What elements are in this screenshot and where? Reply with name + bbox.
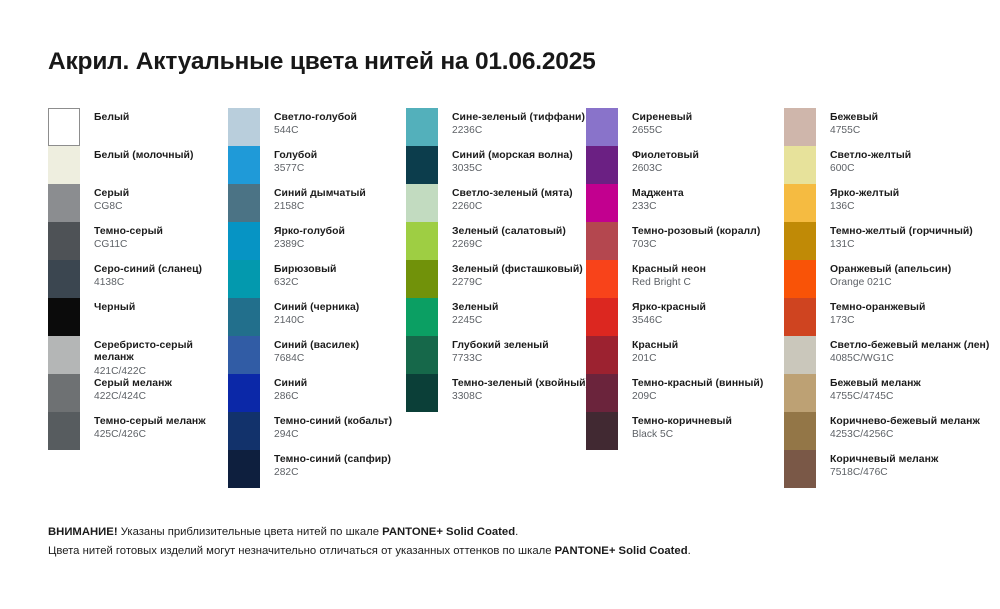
color-labels: Синий (василек)7684C	[260, 336, 359, 365]
color-name: Черный	[94, 302, 135, 314]
color-name: Синий дымчатый	[274, 188, 366, 200]
pantone-code: 2236C	[452, 125, 585, 137]
color-name: Синий (черника)	[274, 302, 359, 314]
color-swatch[interactable]	[228, 108, 260, 146]
color-entry[interactable]: Синий дымчатый2158C	[228, 184, 406, 222]
color-entry[interactable]: СерыйCG8C	[48, 184, 228, 222]
color-swatch[interactable]	[228, 412, 260, 450]
color-name: Серый меланж	[94, 378, 172, 390]
color-labels: Темно-розовый (коралл)703C	[618, 222, 760, 251]
color-entry[interactable]: Бирюзовый632C	[228, 260, 406, 298]
color-swatch[interactable]	[228, 260, 260, 298]
color-swatch[interactable]	[228, 222, 260, 260]
color-name: Фиолетовый	[632, 150, 699, 162]
footer-line-1-text: Указаны приблизительные цвета нитей по ш…	[118, 526, 383, 538]
color-swatch[interactable]	[48, 298, 80, 336]
color-entry[interactable]: Бежевый4755C	[784, 108, 998, 146]
color-name: Зеленый	[452, 302, 498, 314]
footer-attention-label: ВНИМАНИЕ!	[48, 526, 118, 538]
color-name: Серый	[94, 188, 129, 200]
color-swatch[interactable]	[48, 336, 80, 374]
color-labels: Ярко-красный3546C	[618, 298, 706, 327]
color-entry[interactable]: Коричневый меланж7518C/476C	[784, 450, 998, 488]
color-swatch[interactable]	[48, 184, 80, 222]
color-columns-container: БелыйБелый (молочный)СерыйCG8CТемно-серы…	[48, 108, 998, 488]
color-labels: Зеленый2245C	[438, 298, 498, 327]
pantone-code: 2603C	[632, 163, 699, 175]
color-labels: Синий дымчатый2158C	[260, 184, 366, 213]
pantone-code: 632C	[274, 277, 336, 289]
color-labels: Темно-желтый (горчичный)131C	[816, 222, 973, 251]
color-column-grayscale: БелыйБелый (молочный)СерыйCG8CТемно-серы…	[48, 108, 228, 450]
color-entry[interactable]: Ярко-желтый136C	[784, 184, 998, 222]
color-swatch[interactable]	[586, 412, 618, 450]
pantone-code: CG8C	[94, 201, 129, 213]
color-entry[interactable]: Темно-оранжевый173C	[784, 298, 998, 336]
color-entry[interactable]: Серый меланж422C/424C	[48, 374, 228, 412]
pantone-code: 294C	[274, 429, 392, 441]
color-swatch[interactable]	[48, 146, 80, 184]
pantone-code: 209C	[632, 391, 763, 403]
color-entry[interactable]: Голубой3577C	[228, 146, 406, 184]
color-labels: Бирюзовый632C	[260, 260, 336, 289]
color-entry[interactable]: Зеленый2245C	[406, 298, 586, 336]
pantone-code: 425C/426C	[94, 429, 206, 441]
color-entry[interactable]: Белый	[48, 108, 228, 146]
pantone-code: 2389C	[274, 239, 345, 251]
color-entry[interactable]: Темно-серыйCG11C	[48, 222, 228, 260]
color-labels: Темно-оранжевый173C	[816, 298, 925, 327]
color-column-blues: Светло-голубой544CГолубой3577CСиний дымч…	[228, 108, 406, 488]
pantone-code: 4085C/WG1C	[830, 353, 989, 365]
pantone-code: 2655C	[632, 125, 692, 137]
color-swatch[interactable]	[48, 412, 80, 450]
color-name: Голубой	[274, 150, 317, 162]
color-labels: Сиреневый2655C	[618, 108, 692, 137]
color-labels: Темно-серыйCG11C	[80, 222, 163, 251]
color-name: Красный неон	[632, 264, 706, 276]
color-labels: Светло-голубой544C	[260, 108, 357, 137]
color-swatch[interactable]	[48, 108, 80, 146]
color-swatch[interactable]	[586, 336, 618, 374]
color-entry[interactable]: Светло-бежевый меланж (лен)4085C/WG1C	[784, 336, 998, 374]
pantone-code: Red Bright C	[632, 277, 706, 289]
color-entry[interactable]: Зеленый (салатовый)2269C	[406, 222, 586, 260]
color-chart-page: Акрил. Актуальные цвета нитей на 01.06.2…	[0, 0, 1000, 609]
color-labels: Серебристо-серый меланж421C/422C	[80, 336, 214, 378]
pantone-code: 201C	[632, 353, 678, 365]
color-labels: СерыйCG8C	[80, 184, 129, 213]
color-swatch[interactable]	[784, 412, 816, 450]
color-labels: Серо-синий (сланец)4138C	[80, 260, 202, 289]
pantone-code: 2140C	[274, 315, 359, 327]
color-name: Коричнево-бежевый меланж	[830, 416, 980, 428]
color-entry[interactable]: Красный неонRed Bright C	[586, 260, 784, 298]
pantone-code: 600C	[830, 163, 911, 175]
color-labels: Синий (черника)2140C	[260, 298, 359, 327]
color-labels: Оранжевый (апельсин)Orange 021C	[816, 260, 951, 289]
color-swatch[interactable]	[784, 374, 816, 412]
color-entry[interactable]: Темно-коричневыйBlack 5C	[586, 412, 784, 450]
color-entry[interactable]: Светло-голубой544C	[228, 108, 406, 146]
color-labels: Ярко-голубой2389C	[260, 222, 345, 251]
color-labels: Маджента233C	[618, 184, 684, 213]
color-entry[interactable]: Темно-розовый (коралл)703C	[586, 222, 784, 260]
color-name: Синий (василек)	[274, 340, 359, 352]
footer-line-2: Цвета нитей готовых изделий могут незнач…	[48, 542, 953, 561]
pantone-code: 3546C	[632, 315, 706, 327]
color-labels: Ярко-желтый136C	[816, 184, 899, 213]
color-swatch[interactable]	[784, 222, 816, 260]
color-entry[interactable]: Сиреневый2655C	[586, 108, 784, 146]
color-name: Белый (молочный)	[94, 150, 193, 162]
color-entry[interactable]: Синий286C	[228, 374, 406, 412]
pantone-code: 4138C	[94, 277, 202, 289]
color-swatch[interactable]	[586, 374, 618, 412]
color-swatch[interactable]	[406, 374, 438, 412]
color-name: Ярко-голубой	[274, 226, 345, 238]
pantone-code: 7733C	[452, 353, 549, 365]
color-entry[interactable]: Темно-желтый (горчичный)131C	[784, 222, 998, 260]
color-swatch[interactable]	[228, 450, 260, 488]
color-name: Оранжевый (апельсин)	[830, 264, 951, 276]
color-entry[interactable]: Серебристо-серый меланж421C/422C	[48, 336, 228, 374]
color-name: Темно-розовый (коралл)	[632, 226, 760, 238]
color-labels: Красный неонRed Bright C	[618, 260, 706, 289]
color-labels: Глубокий зеленый7733C	[438, 336, 549, 365]
color-labels: Светло-желтый600C	[816, 146, 911, 175]
color-entry[interactable]: Синий (василек)7684C	[228, 336, 406, 374]
color-swatch[interactable]	[228, 374, 260, 412]
color-entry[interactable]: Синий (морская волна)3035C	[406, 146, 586, 184]
color-name: Темно-серый меланж	[94, 416, 206, 428]
footer-line-1-period: .	[515, 526, 518, 538]
color-entry[interactable]: Глубокий зеленый7733C	[406, 336, 586, 374]
pantone-code: 2269C	[452, 239, 566, 251]
color-name: Серебристо-серый меланж	[94, 340, 214, 365]
pantone-code: Orange 021C	[830, 277, 951, 289]
color-name: Глубокий зеленый	[452, 340, 549, 352]
color-swatch[interactable]	[586, 184, 618, 222]
color-entry[interactable]: Темно-синий (кобальт)294C	[228, 412, 406, 450]
color-entry[interactable]: Светло-зеленый (мята)2260C	[406, 184, 586, 222]
pantone-code: 173C	[830, 315, 925, 327]
color-swatch[interactable]	[406, 260, 438, 298]
color-swatch[interactable]	[48, 222, 80, 260]
color-swatch[interactable]	[586, 108, 618, 146]
color-entry[interactable]: Красный201C	[586, 336, 784, 374]
color-labels: Красный201C	[618, 336, 678, 365]
color-name: Темно-серый	[94, 226, 163, 238]
footer-brand-2: PANTONE+ Solid Coated	[555, 545, 688, 557]
color-entry[interactable]: Бежевый меланж4755C/4745C	[784, 374, 998, 412]
pantone-code: Black 5C	[632, 429, 732, 441]
pantone-code: 2245C	[452, 315, 498, 327]
color-entry[interactable]: Светло-желтый600C	[784, 146, 998, 184]
color-labels: Синий286C	[260, 374, 307, 403]
color-name: Темно-синий (сапфир)	[274, 454, 391, 466]
color-entry[interactable]: Зеленый (фисташковый)2279C	[406, 260, 586, 298]
color-labels: Синий (морская волна)3035C	[438, 146, 573, 175]
color-labels: Коричневый меланж7518C/476C	[816, 450, 938, 479]
color-labels: Белый (молочный)	[80, 146, 193, 162]
color-labels: Зеленый (фисташковый)2279C	[438, 260, 583, 289]
color-labels: Коричнево-бежевый меланж4253C/4256C	[816, 412, 980, 441]
color-swatch[interactable]	[784, 108, 816, 146]
color-swatch[interactable]	[784, 184, 816, 222]
color-name: Темно-оранжевый	[830, 302, 925, 314]
color-labels: Зеленый (салатовый)2269C	[438, 222, 566, 251]
color-labels: Бежевый4755C	[816, 108, 878, 137]
color-entry[interactable]: Ярко-голубой2389C	[228, 222, 406, 260]
pantone-code: 286C	[274, 391, 307, 403]
color-name: Ярко-красный	[632, 302, 706, 314]
color-swatch[interactable]	[406, 184, 438, 222]
color-labels: Темно-красный (винный)209C	[618, 374, 763, 403]
color-swatch[interactable]	[784, 146, 816, 184]
color-swatch[interactable]	[406, 298, 438, 336]
color-name: Маджента	[632, 188, 684, 200]
color-swatch[interactable]	[228, 184, 260, 222]
pantone-code: 233C	[632, 201, 684, 213]
pantone-code: 4755C	[830, 125, 878, 137]
color-swatch[interactable]	[586, 222, 618, 260]
pantone-code: 544C	[274, 125, 357, 137]
footer-brand-1: PANTONE+ Solid Coated	[382, 526, 515, 538]
pantone-code: 2158C	[274, 201, 366, 213]
color-name: Ярко-желтый	[830, 188, 899, 200]
color-name: Коричневый меланж	[830, 454, 938, 466]
color-name: Сине-зеленый (тиффани)	[452, 112, 585, 124]
pantone-code: 7684C	[274, 353, 359, 365]
color-entry[interactable]: Темно-красный (винный)209C	[586, 374, 784, 412]
color-entry[interactable]: Ярко-красный3546C	[586, 298, 784, 336]
color-entry[interactable]: Коричнево-бежевый меланж4253C/4256C	[784, 412, 998, 450]
color-labels: Фиолетовый2603C	[618, 146, 699, 175]
color-swatch[interactable]	[406, 222, 438, 260]
color-swatch[interactable]	[406, 146, 438, 184]
color-name: Темно-красный (винный)	[632, 378, 763, 390]
color-swatch[interactable]	[228, 298, 260, 336]
pantone-code: CG11C	[94, 239, 163, 251]
color-column-beiges-browns: Бежевый4755CСветло-желтый600CЯрко-желтый…	[784, 108, 998, 488]
color-labels: Темно-серый меланж425C/426C	[80, 412, 206, 441]
pantone-code: 4755C/4745C	[830, 391, 921, 403]
footer-disclaimer: ВНИМАНИЕ! Указаны приблизительные цвета …	[48, 523, 953, 560]
footer-line-1: ВНИМАНИЕ! Указаны приблизительные цвета …	[48, 523, 953, 542]
color-swatch[interactable]	[228, 336, 260, 374]
color-swatch[interactable]	[784, 298, 816, 336]
color-labels: Темно-зеленый (хвойный)3308C	[438, 374, 586, 403]
color-labels: Сине-зеленый (тиффани)2236C	[438, 108, 585, 137]
color-labels: Белый	[80, 108, 129, 124]
color-name: Светло-голубой	[274, 112, 357, 124]
color-name: Светло-бежевый меланж (лен)	[830, 340, 989, 352]
color-swatch[interactable]	[406, 108, 438, 146]
color-name: Красный	[632, 340, 678, 352]
color-entry[interactable]: Фиолетовый2603C	[586, 146, 784, 184]
color-entry[interactable]: Белый (молочный)	[48, 146, 228, 184]
color-entry[interactable]: Оранжевый (апельсин)Orange 021C	[784, 260, 998, 298]
color-swatch[interactable]	[586, 260, 618, 298]
color-column-greens: Сине-зеленый (тиффани)2236CСиний (морска…	[406, 108, 586, 412]
color-name: Синий	[274, 378, 307, 390]
pantone-code: 7518C/476C	[830, 467, 938, 479]
color-name: Темно-желтый (горчичный)	[830, 226, 973, 238]
color-name: Бежевый меланж	[830, 378, 921, 390]
pantone-code: 2279C	[452, 277, 583, 289]
pantone-code: 2260C	[452, 201, 573, 213]
color-swatch[interactable]	[586, 298, 618, 336]
page-title: Акрил. Актуальные цвета нитей на 01.06.2…	[48, 48, 596, 76]
color-swatch[interactable]	[784, 450, 816, 488]
color-labels: Темно-синий (сапфир)282C	[260, 450, 391, 479]
color-column-purples-reds: Сиреневый2655CФиолетовый2603CМаджента233…	[586, 108, 784, 450]
color-swatch[interactable]	[406, 336, 438, 374]
pantone-code: 3035C	[452, 163, 573, 175]
color-entry[interactable]: Черный	[48, 298, 228, 336]
color-entry[interactable]: Темно-серый меланж425C/426C	[48, 412, 228, 450]
color-entry[interactable]: Маджента233C	[586, 184, 784, 222]
color-name: Бежевый	[830, 112, 878, 124]
color-name: Зеленый (фисташковый)	[452, 264, 583, 276]
color-labels: Серый меланж422C/424C	[80, 374, 172, 403]
color-name: Сиреневый	[632, 112, 692, 124]
color-entry[interactable]: Темно-синий (сапфир)282C	[228, 450, 406, 488]
color-name: Светло-желтый	[830, 150, 911, 162]
color-swatch[interactable]	[48, 374, 80, 412]
color-name: Синий (морская волна)	[452, 150, 573, 162]
color-name: Зеленый (салатовый)	[452, 226, 566, 238]
color-name: Темно-зеленый (хвойный)	[452, 378, 586, 390]
footer-line-2-period: .	[688, 545, 691, 557]
color-labels: Черный	[80, 298, 135, 314]
color-labels: Темно-коричневыйBlack 5C	[618, 412, 732, 441]
pantone-code: 4253C/4256C	[830, 429, 980, 441]
color-labels: Голубой3577C	[260, 146, 317, 175]
footer-line-2-text: Цвета нитей готовых изделий могут незнач…	[48, 545, 555, 557]
color-name: Серо-синий (сланец)	[94, 264, 202, 276]
color-labels: Темно-синий (кобальт)294C	[260, 412, 392, 441]
pantone-code: 282C	[274, 467, 391, 479]
color-swatch[interactable]	[586, 146, 618, 184]
color-swatch[interactable]	[48, 260, 80, 298]
pantone-code: 3308C	[452, 391, 586, 403]
color-name: Светло-зеленый (мята)	[452, 188, 573, 200]
color-entry[interactable]: Серо-синий (сланец)4138C	[48, 260, 228, 298]
color-name: Темно-синий (кобальт)	[274, 416, 392, 428]
color-entry[interactable]: Темно-зеленый (хвойный)3308C	[406, 374, 586, 412]
color-labels: Светло-бежевый меланж (лен)4085C/WG1C	[816, 336, 989, 365]
color-name: Темно-коричневый	[632, 416, 732, 428]
color-name: Белый	[94, 112, 129, 124]
pantone-code: 422C/424C	[94, 391, 172, 403]
pantone-code: 136C	[830, 201, 899, 213]
pantone-code: 703C	[632, 239, 760, 251]
color-labels: Светло-зеленый (мята)2260C	[438, 184, 573, 213]
color-entry[interactable]: Синий (черника)2140C	[228, 298, 406, 336]
color-name: Бирюзовый	[274, 264, 336, 276]
color-swatch[interactable]	[228, 146, 260, 184]
pantone-code: 131C	[830, 239, 973, 251]
pantone-code: 3577C	[274, 163, 317, 175]
color-labels: Бежевый меланж4755C/4745C	[816, 374, 921, 403]
color-swatch[interactable]	[784, 260, 816, 298]
color-entry[interactable]: Сине-зеленый (тиффани)2236C	[406, 108, 586, 146]
color-swatch[interactable]	[784, 336, 816, 374]
